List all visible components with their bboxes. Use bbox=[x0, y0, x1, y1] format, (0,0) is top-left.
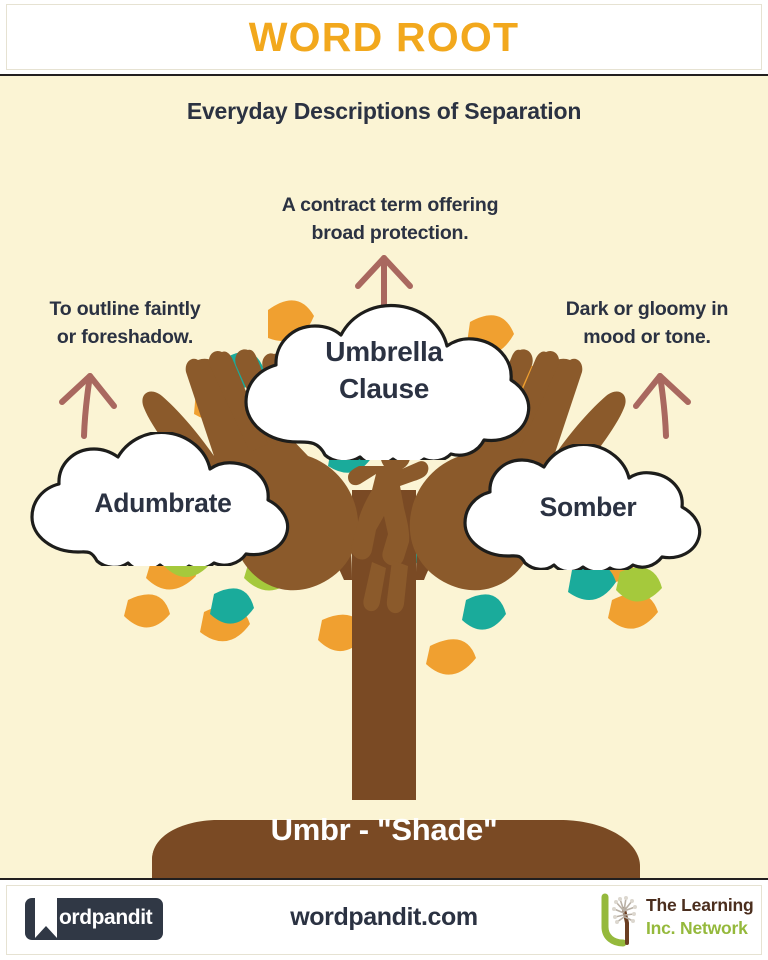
callout-line-2: mood or tone. bbox=[530, 324, 764, 352]
callout-line-1: Dark or gloomy in bbox=[530, 296, 764, 324]
cloud-label-line-2: Clause bbox=[232, 371, 536, 408]
the-learning-inc-network-logo[interactable]: The Learning Inc. Network bbox=[598, 893, 758, 947]
callout-line-2: or foreshadow. bbox=[6, 324, 244, 352]
cloud-label-line-1: Adumbrate bbox=[18, 486, 308, 521]
adumbrate-description: To outline faintly or foreshadow. bbox=[6, 296, 244, 351]
callout-line-2: broad protection. bbox=[204, 220, 576, 248]
arrow-up-icon-right bbox=[626, 370, 698, 440]
cloud-label-somber: Somber bbox=[452, 490, 724, 525]
callout-line-1: A contract term offering bbox=[204, 192, 576, 220]
word-root-infographic: WORD ROOT Everyday Descriptions of Separ… bbox=[0, 0, 768, 960]
tree-logo-icon bbox=[598, 893, 644, 947]
root-word-label: Umbr - "Shade" bbox=[0, 812, 768, 848]
cloud-label-line-1: Somber bbox=[452, 490, 724, 525]
partner-name-line-2: Inc. Network bbox=[646, 918, 748, 939]
cloud-adumbrate: Adumbrate bbox=[18, 432, 308, 571]
somber-description: Dark or gloomy in mood or tone. bbox=[530, 296, 764, 351]
cloud-label-adumbrate: Adumbrate bbox=[18, 486, 308, 521]
page-title: WORD ROOT bbox=[249, 14, 519, 61]
partner-name-line-1: The Learning bbox=[646, 895, 753, 916]
callout-line-1: To outline faintly bbox=[6, 296, 244, 324]
cloud-label-line-1: Umbrella bbox=[232, 334, 536, 371]
umbrella-clause-description: A contract term offering broad protectio… bbox=[204, 192, 576, 247]
arrow-up-icon-left bbox=[52, 370, 124, 440]
cloud-label-umbrella-clause: Umbrella Clause bbox=[232, 334, 536, 408]
cloud-somber: Somber bbox=[452, 444, 724, 575]
